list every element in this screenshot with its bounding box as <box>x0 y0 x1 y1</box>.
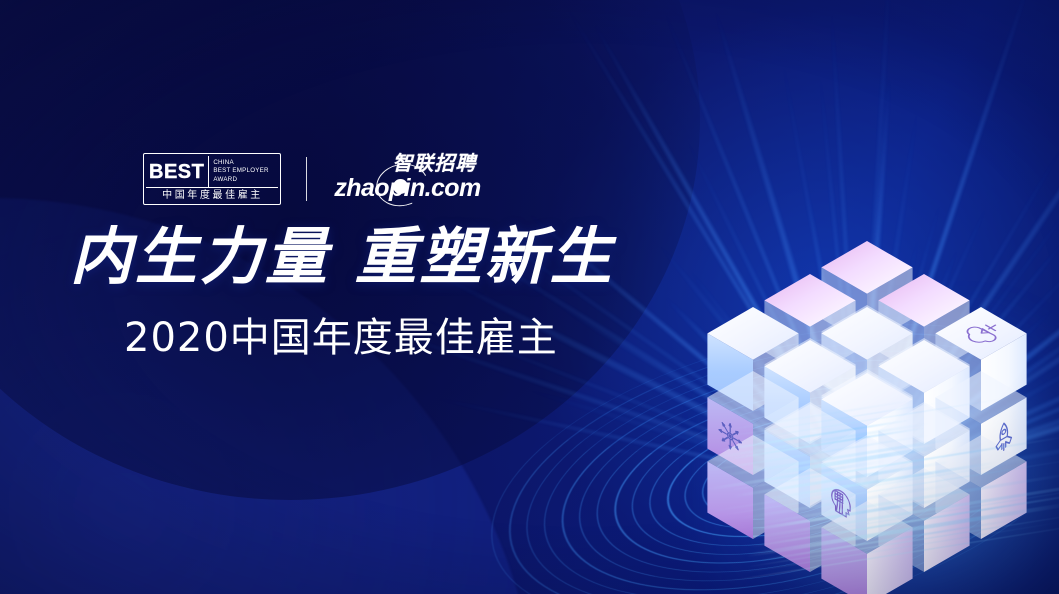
rubiks-cube-graphic <box>655 120 1059 560</box>
best-wordmark: BEST <box>146 156 209 187</box>
best-logo-en-line2: BEST EMPLOYER <box>213 167 278 175</box>
cube-svg <box>655 120 1059 560</box>
logo-row: BEST CHINA BEST EMPLOYER AWARD 中国年度最佳雇主 … <box>143 152 502 206</box>
best-employer-logo: BEST CHINA BEST EMPLOYER AWARD 中国年度最佳雇主 <box>143 153 281 205</box>
best-logo-top: BEST CHINA BEST EMPLOYER AWARD <box>146 156 278 187</box>
best-wordmark-text: BEST <box>149 162 204 182</box>
page-subtitle: 2020中国年度最佳雇主 <box>124 318 558 358</box>
best-logo-en-line3: AWARD <box>213 176 278 184</box>
best-logo-english: CHINA BEST EMPLOYER AWARD <box>209 156 278 187</box>
page-title: 内生力量 重塑新生 <box>70 226 615 288</box>
best-logo-en-line1: CHINA <box>213 159 278 167</box>
banner-canvas: BEST CHINA BEST EMPLOYER AWARD 中国年度最佳雇主 … <box>0 0 1059 594</box>
best-logo-chinese: 中国年度最佳雇主 <box>146 187 278 202</box>
zhaopin-logo-chinese: 智联招聘 <box>392 153 476 173</box>
logo-divider <box>306 157 307 201</box>
zhaopin-logo: 智联招聘 zhaopin.com <box>334 152 502 206</box>
